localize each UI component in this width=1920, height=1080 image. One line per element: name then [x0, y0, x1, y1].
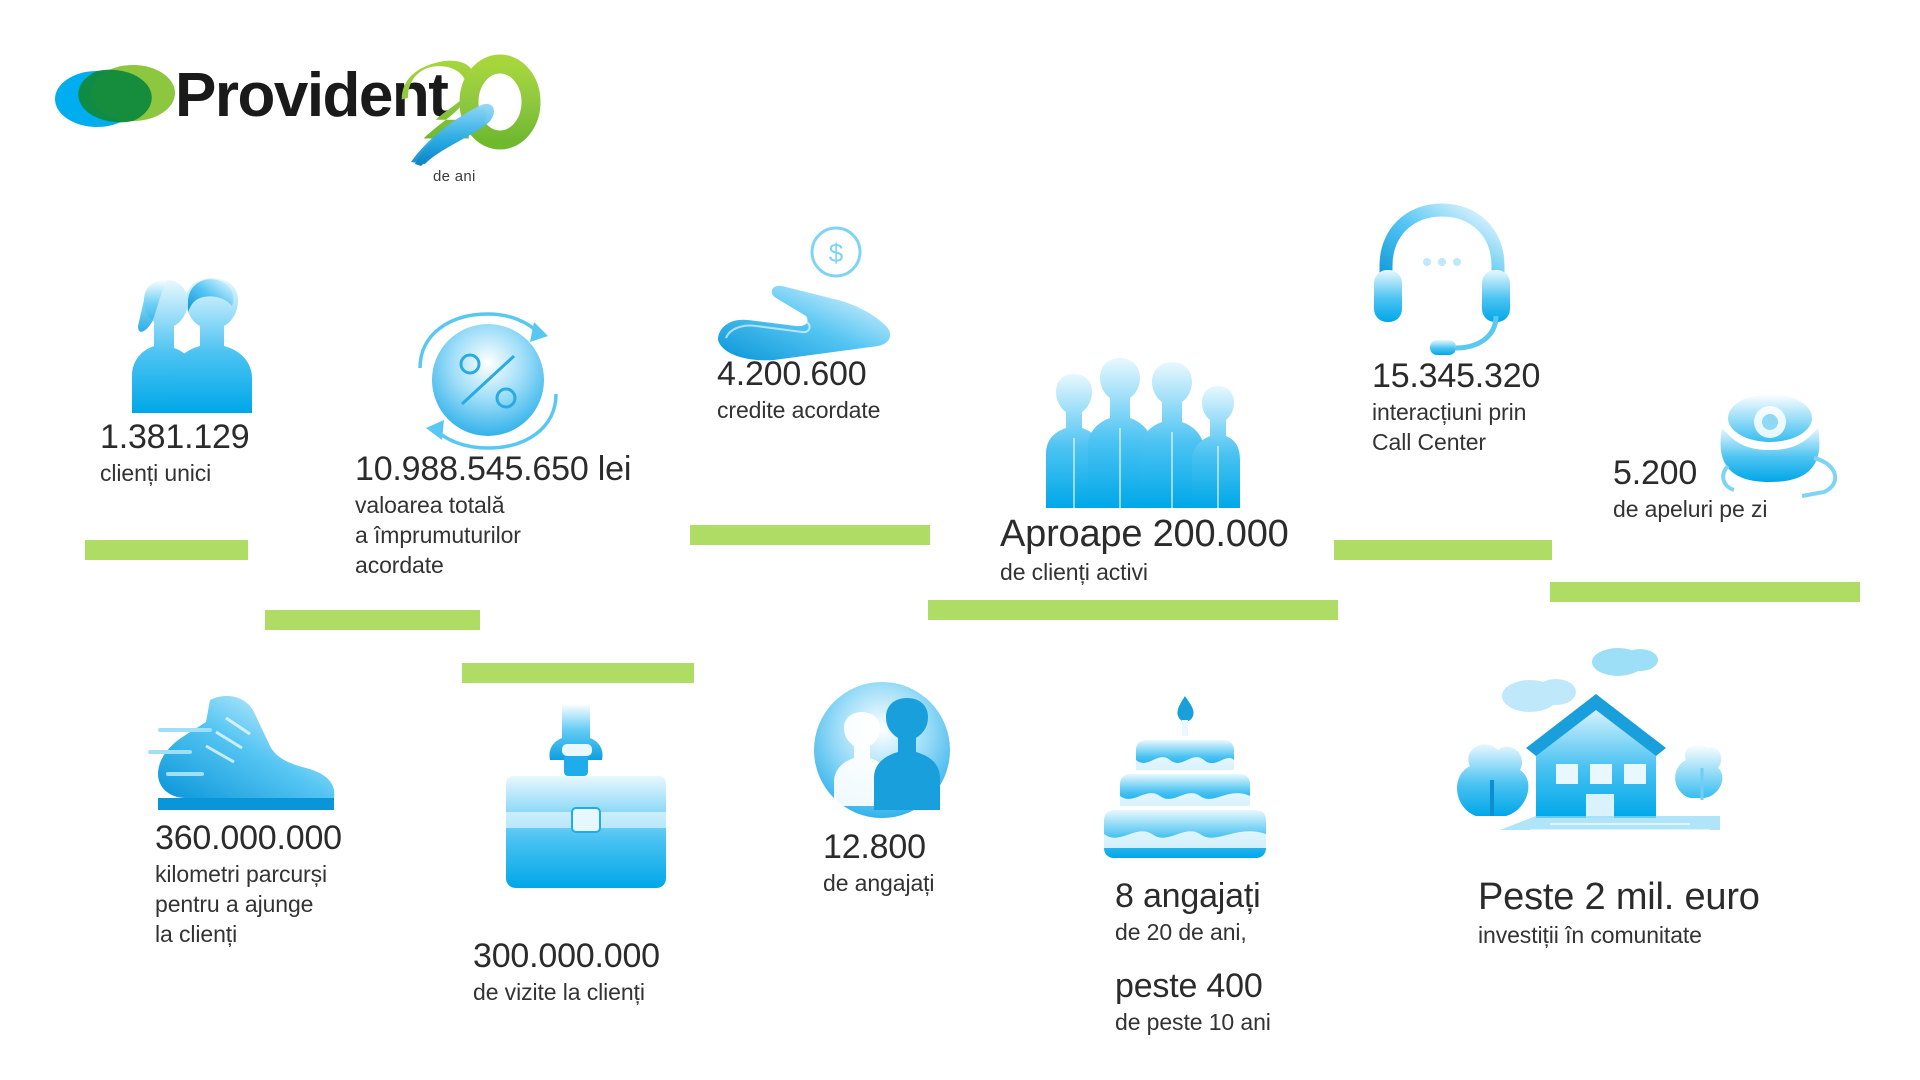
logo-anniversary-caption: de ani [433, 168, 476, 185]
stat-caption: kilometri parcurși pentru a ajunge la cl… [155, 859, 475, 949]
stat-value: 4.200.600 [717, 353, 1017, 395]
stat-caption: de apeluri pe zi [1613, 494, 1913, 524]
percent-circle-icon [398, 312, 578, 457]
running-shoe-icon [150, 690, 350, 820]
stat-caption: de clienți activi [1000, 557, 1340, 587]
two-people-circle-icon [812, 680, 952, 820]
stat-caption: de 20 de ani, [1115, 917, 1415, 947]
provident-logo: Provident [55, 40, 525, 160]
stat-value: Peste 2 mil. euro [1478, 874, 1858, 920]
headset-icon [1372, 204, 1512, 354]
accent-bar-7 [462, 663, 694, 683]
people-group-icon [1040, 358, 1240, 508]
stat-valoare-imprumuturi: 10.988.545.650 lei valoarea totală a împ… [355, 448, 695, 580]
stat-caption-secondary: de peste 10 ani [1115, 1007, 1415, 1037]
accent-bar-2 [690, 525, 930, 545]
stat-value: 8 angajați [1115, 875, 1415, 917]
accent-bar-5 [265, 610, 480, 630]
stat-clienti-activi: Aproape 200.000 de clienți activi [1000, 511, 1340, 587]
stat-caption: investiții în comunitate [1478, 920, 1858, 950]
briefcase-hand-icon [506, 700, 666, 890]
stat-credite-acordate: 4.200.600 credite acordate [717, 353, 1017, 425]
accent-bar-4 [1550, 582, 1860, 602]
two-people-icon [108, 278, 258, 413]
stat-value: 5.200 [1613, 452, 1913, 494]
stat-apeluri-pe-zi: 5.200 de apeluri pe zi [1613, 452, 1913, 524]
stat-caption: de vizite la clienți [473, 977, 813, 1007]
infographic-canvas: Provident [0, 0, 1920, 1080]
stat-caption: credite acordate [717, 395, 1017, 425]
stat-value: Aproape 200.000 [1000, 511, 1340, 557]
stat-investitii-comunitate: Peste 2 mil. euro investiții în comunita… [1478, 874, 1858, 950]
hand-coin-icon: $ [710, 222, 900, 362]
stat-value-secondary: peste 400 [1115, 965, 1415, 1007]
stat-value: 300.000.000 [473, 935, 813, 977]
accent-bar-6 [928, 600, 1338, 620]
accent-bar-3 [1334, 540, 1552, 560]
stat-value: 15.345.320 [1372, 355, 1692, 397]
stat-vizite-la-clienti: 300.000.000 de vizite la clienți [473, 935, 813, 1007]
stat-angajati: 12.800 de angajați [823, 826, 1103, 898]
stat-value: 10.988.545.650 lei [355, 448, 695, 490]
stat-kilometri-parcursi: 360.000.000 kilometri parcurși pentru a … [155, 817, 475, 949]
stat-interactiuni-call-center: 15.345.320 interacțiuni prin Call Center [1372, 355, 1692, 457]
accent-bar-1 [85, 540, 248, 560]
stat-spacer [1115, 947, 1415, 965]
stat-caption: de angajați [823, 868, 1103, 898]
stat-value: 360.000.000 [155, 817, 475, 859]
house-community-icon [1440, 648, 1720, 848]
stat-caption: interacțiuni prin Call Center [1372, 397, 1692, 457]
svg-text:$: $ [829, 238, 844, 268]
birthday-cake-icon [1100, 688, 1270, 868]
logo-anniversary-20-icon [395, 58, 535, 168]
stat-angajati-vechime: 8 angajați de 20 de ani, peste 400 de pe… [1115, 875, 1415, 1037]
provident-logo-mark-icon [55, 65, 175, 127]
stat-value: 12.800 [823, 826, 1103, 868]
stat-caption: valoarea totală a împrumuturilor acordat… [355, 490, 585, 580]
